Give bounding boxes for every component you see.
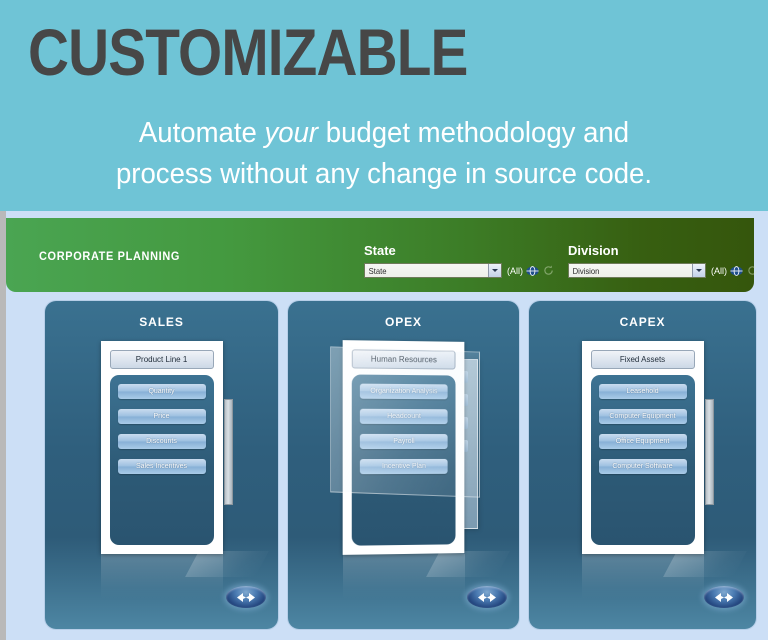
refresh-icon[interactable]	[543, 265, 554, 276]
division-dropdown-value: Division	[569, 266, 599, 276]
globe-icon[interactable]	[526, 266, 539, 276]
capex-card: Fixed Assets Leasehold Computer Equipmen…	[582, 341, 704, 554]
filter-state: State State (All)	[364, 243, 554, 278]
left-right-arrows-icon	[711, 592, 737, 603]
card-reflection	[101, 554, 223, 599]
left-right-arrows-icon	[474, 592, 500, 603]
capex-nav-button[interactable]	[704, 586, 744, 608]
banner-subtitle-emphasis: your	[265, 117, 319, 149]
opex-item-incentive-plan[interactable]: Incentive Plan	[359, 459, 447, 474]
capex-item-computer-equipment[interactable]: Computer Equipment	[599, 409, 687, 424]
panel-capex-title: CAPEX	[529, 315, 756, 329]
left-right-arrows-icon	[233, 592, 259, 603]
application-window: CORPORATE PLANNING State State (All)	[0, 211, 768, 640]
chevron-down-icon[interactable]	[488, 264, 501, 277]
card-sheen	[663, 551, 747, 577]
sales-item-quantity[interactable]: Quantity	[118, 384, 206, 399]
globe-icon[interactable]	[730, 266, 743, 276]
card-sheen	[185, 551, 269, 577]
division-all-label: (All)	[711, 266, 727, 276]
capex-card-body: Leasehold Computer Equipment Office Equi…	[591, 375, 695, 545]
filter-division-row: Division (All)	[568, 263, 758, 278]
division-dropdown[interactable]: Division	[568, 263, 706, 278]
opex-item-payroll[interactable]: Payroll	[359, 434, 447, 449]
capex-card-header[interactable]: Fixed Assets	[591, 350, 695, 369]
banner-subtitle: Automate your budget methodology and pro…	[19, 113, 749, 195]
filter-state-label: State	[364, 243, 554, 258]
sales-card-body: Quantity Price Discounts Sales Incentive…	[110, 375, 214, 545]
sales-item-sales-incentives[interactable]: Sales Incentives	[118, 459, 206, 474]
sales-card: Product Line 1 Quantity Price Discounts …	[101, 341, 223, 554]
filter-division: Division Division (All)	[568, 243, 758, 278]
card-scrollbar[interactable]	[224, 399, 233, 505]
opex-item-headcount[interactable]: Headcount	[359, 409, 447, 424]
banner-subtitle-part1: Automate	[139, 117, 265, 149]
state-all-label: (All)	[507, 266, 523, 276]
sales-item-price[interactable]: Price	[118, 409, 206, 424]
opex-nav-button[interactable]	[467, 586, 507, 608]
opex-item-organization-analysis[interactable]: Organization Analysis	[359, 384, 447, 400]
sales-nav-button[interactable]	[226, 586, 266, 608]
card-reflection	[343, 554, 465, 599]
panel-sales[interactable]: SALES Product Line 1 Quantity Price Disc…	[45, 301, 278, 629]
sales-card-header[interactable]: Product Line 1	[110, 350, 214, 369]
capex-item-computer-software[interactable]: Computer Software	[599, 459, 687, 474]
panel-opex[interactable]: OPEX Human Resources Organization Analys…	[288, 301, 519, 629]
capex-item-leasehold[interactable]: Leasehold	[599, 384, 687, 399]
chevron-down-icon[interactable]	[692, 264, 705, 277]
panel-capex[interactable]: CAPEX Fixed Assets Leasehold Computer Eq…	[529, 301, 756, 629]
banner-headline: CUSTOMIZABLE	[28, 16, 468, 88]
banner-subtitle-part2: budget methodology and	[318, 117, 629, 149]
filter-state-row: State (All)	[364, 263, 554, 278]
marketing-banner: CUSTOMIZABLE Automate your budget method…	[0, 0, 768, 211]
card-reflection	[582, 554, 704, 599]
panel-opex-title: OPEX	[288, 315, 519, 329]
card-scrollbar[interactable]	[705, 399, 714, 505]
state-dropdown-value: State	[365, 266, 386, 276]
filter-division-label: Division	[568, 243, 758, 258]
card-sheen	[426, 551, 510, 577]
opex-card-header[interactable]: Human Resources	[351, 349, 455, 369]
opex-card-body: Organization Analysis Headcount Payroll …	[351, 374, 455, 545]
toolbar: CORPORATE PLANNING State State (All)	[6, 218, 754, 292]
refresh-icon[interactable]	[747, 265, 758, 276]
toolbar-title: CORPORATE PLANNING	[39, 251, 180, 263]
state-dropdown[interactable]: State	[364, 263, 502, 278]
sales-item-discounts[interactable]: Discounts	[118, 434, 206, 449]
capex-item-office-equipment[interactable]: Office Equipment	[599, 434, 687, 449]
banner-subtitle-line2: process without any change in source cod…	[116, 158, 652, 190]
panel-sales-title: SALES	[45, 315, 278, 329]
opex-card: Human Resources Organization Analysis He…	[342, 340, 464, 555]
